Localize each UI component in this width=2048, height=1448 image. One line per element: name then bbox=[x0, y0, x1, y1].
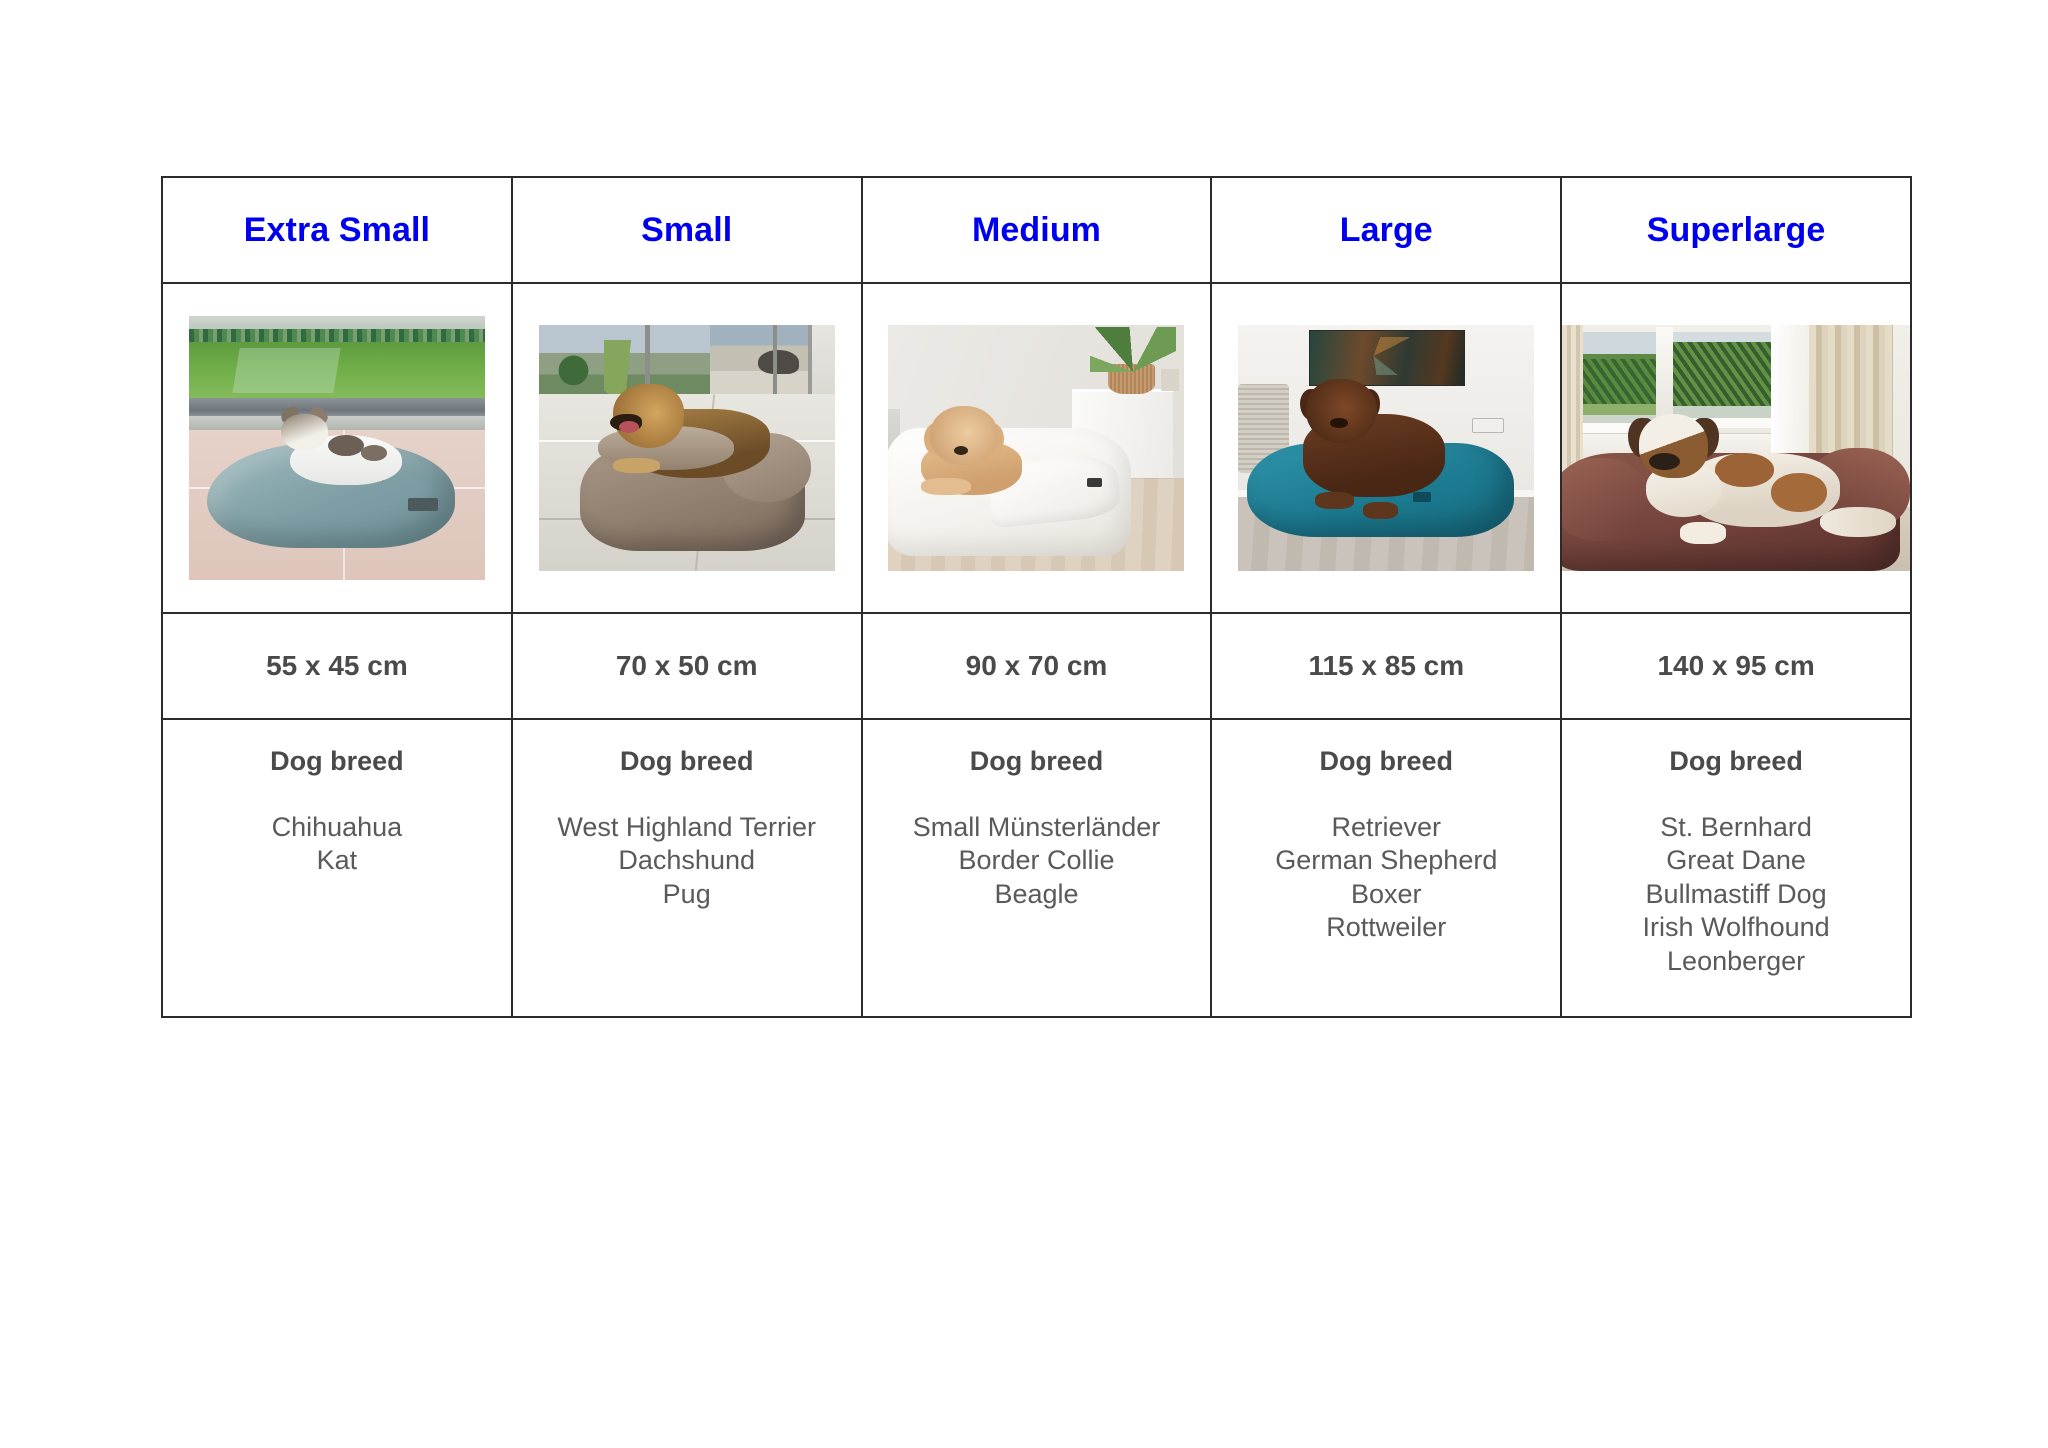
page-canvas: Extra Small Small Medium Large Superlarg… bbox=[0, 0, 2048, 1448]
photo-l-bed-label bbox=[1413, 492, 1431, 502]
breed-block-large: Dog breed Retriever German Shepherd Boxe… bbox=[1212, 720, 1560, 945]
photo-xl-hedge-right bbox=[1673, 342, 1770, 406]
breed-item: Kat bbox=[163, 844, 511, 877]
photo-xs-bed-label bbox=[408, 498, 438, 511]
photo-xl-bed-bolster-left bbox=[1562, 458, 1649, 542]
breed-item: Retriever bbox=[1212, 811, 1560, 844]
photo-extra-small-cat-on-bed bbox=[189, 316, 485, 580]
breed-title-superlarge: Dog breed bbox=[1562, 748, 1910, 775]
dimension-cell-large: 115 x 85 cm bbox=[1211, 613, 1561, 719]
photo-xl-hedge-left bbox=[1583, 359, 1656, 403]
photo-l-wall-artwork bbox=[1309, 330, 1465, 386]
header-cell-medium: Medium bbox=[862, 177, 1212, 283]
header-cell-small: Small bbox=[512, 177, 862, 283]
dimension-cell-extra-small: 55 x 45 cm bbox=[162, 613, 512, 719]
photo-xl-dog-patch-2 bbox=[1771, 473, 1827, 512]
breed-list-small: West Highland Terrier Dachshund Pug bbox=[513, 811, 861, 911]
breed-item: Great Dane bbox=[1562, 844, 1910, 877]
breed-cell-small: Dog breed West Highland Terrier Dachshun… bbox=[512, 719, 862, 1017]
breed-item: Beagle bbox=[863, 878, 1211, 911]
size-name-extra-small: Extra Small bbox=[163, 213, 511, 247]
breed-item: Leonberger bbox=[1562, 945, 1910, 978]
breed-item: Chihuahua bbox=[163, 811, 511, 844]
photo-wrap-extra-small bbox=[163, 284, 511, 612]
photo-small-terrier-on-bed bbox=[539, 325, 835, 571]
photo-xs-grass bbox=[189, 342, 485, 400]
photo-m-dog-head bbox=[930, 406, 998, 465]
breed-item: German Shepherd bbox=[1212, 844, 1560, 877]
breed-list-medium: Small Münsterländer Border Collie Beagle bbox=[863, 811, 1211, 911]
photo-cell-large bbox=[1211, 283, 1561, 613]
size-name-large: Large bbox=[1212, 213, 1560, 247]
header-cell-superlarge: Superlarge bbox=[1561, 177, 1911, 283]
breed-item: Rottweiler bbox=[1212, 911, 1560, 944]
breed-block-medium: Dog breed Small Münsterländer Border Col… bbox=[863, 720, 1211, 911]
photo-cell-medium bbox=[862, 283, 1212, 613]
photo-xl-dog-paw bbox=[1680, 522, 1725, 544]
breed-cell-medium: Dog breed Small Münsterländer Border Col… bbox=[862, 719, 1212, 1017]
breed-list-superlarge: St. Bernhard Great Dane Bullmastiff Dog … bbox=[1562, 811, 1910, 978]
photo-m-houseplant bbox=[1090, 327, 1176, 371]
photo-cell-superlarge bbox=[1561, 283, 1911, 613]
photo-large-labrador-on-bed bbox=[1238, 325, 1534, 571]
photo-l-dog-paw-left bbox=[1315, 492, 1353, 509]
breed-block-small: Dog breed West Highland Terrier Dachshun… bbox=[513, 720, 861, 911]
breed-cell-large: Dog breed Retriever German Shepherd Boxe… bbox=[1211, 719, 1561, 1017]
size-name-small: Small bbox=[513, 213, 861, 247]
photo-wrap-large bbox=[1212, 284, 1560, 612]
photo-wrap-medium bbox=[863, 284, 1211, 612]
breed-item: Boxer bbox=[1212, 878, 1560, 911]
photo-s-dog-paws bbox=[613, 458, 660, 473]
photo-medium-cockapoo-on-bed bbox=[888, 325, 1184, 571]
breed-cell-extra-small: Dog breed Chihuahua Kat bbox=[162, 719, 512, 1017]
table-photo-row bbox=[162, 283, 1911, 613]
breed-title-large: Dog breed bbox=[1212, 748, 1560, 775]
breed-title-extra-small: Dog breed bbox=[163, 748, 511, 775]
photo-xl-dog-patch-1 bbox=[1715, 453, 1774, 487]
photo-xs-cat-patch-1 bbox=[328, 435, 364, 456]
breed-list-extra-small: Chihuahua Kat bbox=[163, 811, 511, 878]
breed-list-large: Retriever German Shepherd Boxer Rottweil… bbox=[1212, 811, 1560, 945]
photo-wrap-superlarge bbox=[1562, 284, 1910, 612]
header-cell-extra-small: Extra Small bbox=[162, 177, 512, 283]
photo-m-bed-label bbox=[1087, 478, 1102, 488]
dimension-medium: 90 x 70 cm bbox=[863, 652, 1211, 680]
header-cell-large: Large bbox=[1211, 177, 1561, 283]
breed-title-small: Dog breed bbox=[513, 748, 861, 775]
dog-bed-size-table: Extra Small Small Medium Large Superlarg… bbox=[161, 176, 1912, 1018]
breed-block-extra-small: Dog breed Chihuahua Kat bbox=[163, 720, 511, 878]
photo-s-rock bbox=[758, 350, 799, 375]
dimension-cell-small: 70 x 50 cm bbox=[512, 613, 862, 719]
photo-cell-small bbox=[512, 283, 862, 613]
table-breed-row: Dog breed Chihuahua Kat Dog breed West H… bbox=[162, 719, 1911, 1017]
photo-m-dog-paws bbox=[921, 478, 971, 495]
breed-item: Border Collie bbox=[863, 844, 1211, 877]
dimension-cell-medium: 90 x 70 cm bbox=[862, 613, 1212, 719]
breed-item: Bullmastiff Dog bbox=[1562, 878, 1910, 911]
dimension-large: 115 x 85 cm bbox=[1212, 652, 1560, 680]
size-name-superlarge: Superlarge bbox=[1562, 213, 1910, 247]
breed-item: Small Münsterländer bbox=[863, 811, 1211, 844]
breed-title-medium: Dog breed bbox=[863, 748, 1211, 775]
dimension-cell-superlarge: 140 x 95 cm bbox=[1561, 613, 1911, 719]
table-dimension-row: 55 x 45 cm 70 x 50 cm 90 x 70 cm 115 x 8… bbox=[162, 613, 1911, 719]
table-header-row: Extra Small Small Medium Large Superlarg… bbox=[162, 177, 1911, 283]
photo-cell-extra-small bbox=[162, 283, 512, 613]
breed-cell-superlarge: Dog breed St. Bernhard Great Dane Bullma… bbox=[1561, 719, 1911, 1017]
size-name-medium: Medium bbox=[863, 213, 1211, 247]
photo-xl-curtain-left bbox=[1562, 325, 1583, 478]
photo-wrap-small bbox=[513, 284, 861, 612]
breed-item: West Highland Terrier bbox=[513, 811, 861, 844]
photo-xs-cat-head bbox=[281, 414, 328, 451]
dimension-superlarge: 140 x 95 cm bbox=[1562, 652, 1910, 680]
dimension-small: 70 x 50 cm bbox=[513, 652, 861, 680]
breed-item: Irish Wolfhound bbox=[1562, 911, 1910, 944]
photo-l-dog-paw-right bbox=[1363, 502, 1399, 519]
dimension-extra-small: 55 x 45 cm bbox=[163, 652, 511, 680]
photo-l-wall-socket bbox=[1472, 418, 1504, 432]
photo-superlarge-st-bernard-on-bed bbox=[1562, 325, 1910, 571]
breed-block-superlarge: Dog breed St. Bernhard Great Dane Bullma… bbox=[1562, 720, 1910, 978]
breed-item: Pug bbox=[513, 878, 861, 911]
photo-xl-dog-tail bbox=[1820, 507, 1897, 537]
breed-item: Dachshund bbox=[513, 844, 861, 877]
photo-m-candle bbox=[1161, 369, 1179, 391]
breed-item: St. Bernhard bbox=[1562, 811, 1910, 844]
